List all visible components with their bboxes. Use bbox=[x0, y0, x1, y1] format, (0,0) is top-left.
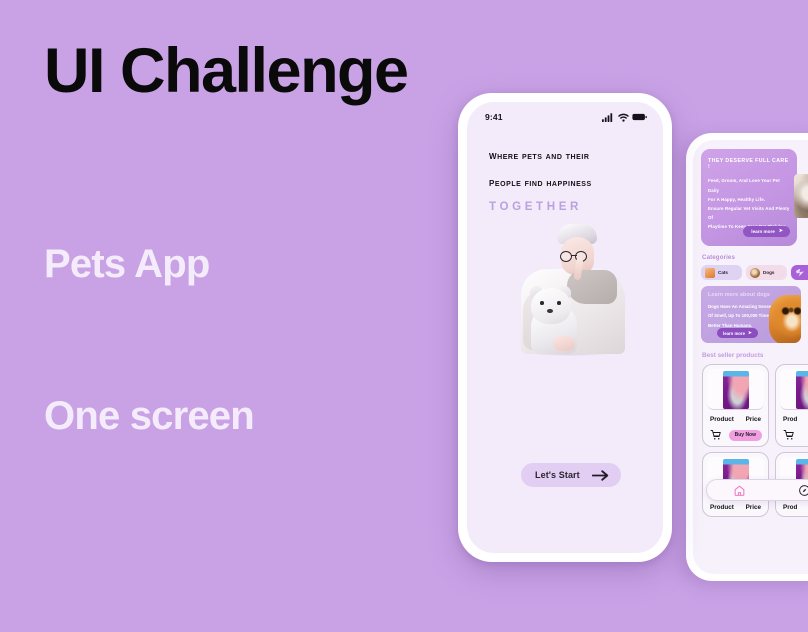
best-sellers-row-1: Product Price Buy Now bbox=[702, 364, 808, 447]
compass-icon bbox=[798, 484, 808, 497]
category-chip-dogs-label: Dogs bbox=[763, 270, 774, 275]
illustration-glasses-bridge bbox=[571, 255, 577, 256]
headline-block: UI Challenge bbox=[44, 38, 444, 104]
category-chip-cats-label: Cats bbox=[718, 270, 728, 275]
hero-copy: Where pets and their people find happine… bbox=[467, 128, 663, 213]
hero-line-together: TOGETHER bbox=[489, 200, 643, 213]
dogs-learn-more-button[interactable]: learn more ➤ bbox=[717, 328, 758, 338]
illustration-hand bbox=[553, 336, 575, 351]
shopping-cart-icon[interactable] bbox=[710, 429, 722, 441]
dogs-learn-more-label: learn more bbox=[723, 331, 745, 336]
product-name-label: Prod bbox=[783, 416, 797, 423]
dogs-fact-card: Learn more about dogs Dogs Have An Amazi… bbox=[701, 286, 801, 343]
product-photo bbox=[796, 371, 808, 409]
product-name-label: Prod bbox=[783, 504, 797, 511]
product-image-wrap bbox=[707, 369, 764, 410]
product-price-label: Price bbox=[746, 504, 761, 511]
illustration-dog-eye-left bbox=[540, 301, 544, 305]
arrow-right-icon: ➤ bbox=[779, 229, 783, 234]
care-line-1: Feed, Groom, And Love Your Pet Daily bbox=[708, 176, 790, 194]
categories-row: Cats Dogs bbox=[701, 265, 808, 280]
category-chip-cats[interactable]: Cats bbox=[701, 265, 742, 280]
category-chip-dogs[interactable]: Dogs bbox=[746, 265, 787, 280]
wifi-icon bbox=[618, 113, 629, 122]
nav-item-home[interactable] bbox=[707, 484, 772, 497]
care-banner-heading: THEY DESERVE FULL CARE ! bbox=[708, 158, 790, 170]
phone-back-screen: THEY DESERVE FULL CARE ! Feed, Groom, An… bbox=[693, 140, 808, 574]
arrow-right-icon bbox=[592, 469, 609, 482]
boy-holding-white-dog-3d-illustration bbox=[509, 224, 625, 354]
cat-icon bbox=[705, 268, 715, 278]
categories-title: Categories bbox=[702, 254, 808, 261]
pomeranian-dog-photo bbox=[769, 295, 801, 343]
status-bar: 9:41 bbox=[467, 102, 663, 128]
illustration-glasses-left bbox=[560, 251, 572, 262]
best-sellers-title: Best seller products bbox=[702, 352, 808, 359]
screenshot-root: UI Challenge Pets App One screen THEY DE… bbox=[0, 0, 808, 632]
product-card[interactable]: Prod bbox=[775, 364, 808, 447]
battery-icon bbox=[632, 113, 647, 121]
product-labels: Prod bbox=[780, 410, 808, 423]
phone-mockup-back: THEY DESERVE FULL CARE ! Feed, Groom, An… bbox=[686, 133, 808, 581]
hero-line-1: Where pets and their bbox=[489, 142, 643, 169]
bottom-nav-bar bbox=[706, 479, 808, 501]
product-name-label: Product bbox=[710, 416, 734, 423]
bird-icon bbox=[795, 268, 805, 278]
nav-item-explore[interactable] bbox=[772, 484, 808, 497]
illustration-dog-eye-right bbox=[557, 301, 561, 305]
care-banner: THEY DESERVE FULL CARE ! Feed, Groom, An… bbox=[701, 149, 797, 246]
shopping-cart-icon[interactable] bbox=[783, 429, 795, 441]
illustration-dog-head bbox=[531, 288, 571, 324]
care-line-2: For A Happy, Healthy Life. bbox=[708, 195, 790, 204]
dog-icon bbox=[750, 268, 760, 278]
product-image-wrap bbox=[780, 369, 808, 410]
phone-mockup-front: 9:41 bbox=[458, 93, 672, 562]
lets-start-label: Let's Start bbox=[535, 470, 580, 480]
cat-food-bag-photo bbox=[723, 371, 749, 409]
product-actions bbox=[780, 423, 808, 441]
product-name-label: Product bbox=[710, 504, 734, 511]
cellular-signal-icon bbox=[602, 113, 614, 122]
care-learn-more-label: learn more bbox=[751, 229, 775, 234]
product-labels: Product Price bbox=[707, 410, 764, 423]
subtitle-one-screen: One screen bbox=[44, 394, 254, 439]
status-bar-time: 9:41 bbox=[485, 112, 503, 122]
arrow-right-icon: ➤ bbox=[748, 330, 752, 336]
buy-now-button[interactable]: Buy Now bbox=[729, 430, 762, 441]
buy-now-label: Buy Now bbox=[735, 432, 756, 438]
product-card[interactable]: Product Price Buy Now bbox=[702, 364, 769, 447]
page-title: UI Challenge bbox=[44, 38, 444, 104]
category-chip-birds[interactable] bbox=[791, 265, 808, 280]
tabby-kitten-photo bbox=[794, 174, 808, 218]
phone-front-screen: 9:41 bbox=[467, 102, 663, 553]
hero-line-2: people find happiness bbox=[489, 169, 643, 196]
care-line-3: Ensure Regular Vet Visits And Plenty Of bbox=[708, 204, 790, 222]
care-banner-body: Feed, Groom, And Love Your Pet Daily For… bbox=[708, 176, 790, 230]
subtitle-pets-app: Pets App bbox=[44, 242, 209, 287]
product-price-label: Price bbox=[746, 416, 761, 423]
product-actions: Buy Now bbox=[707, 423, 764, 441]
status-bar-icons bbox=[602, 113, 647, 122]
home-icon bbox=[733, 484, 746, 497]
lets-start-button[interactable]: Let's Start bbox=[521, 463, 621, 487]
care-learn-more-button[interactable]: learn more ➤ bbox=[743, 226, 790, 237]
